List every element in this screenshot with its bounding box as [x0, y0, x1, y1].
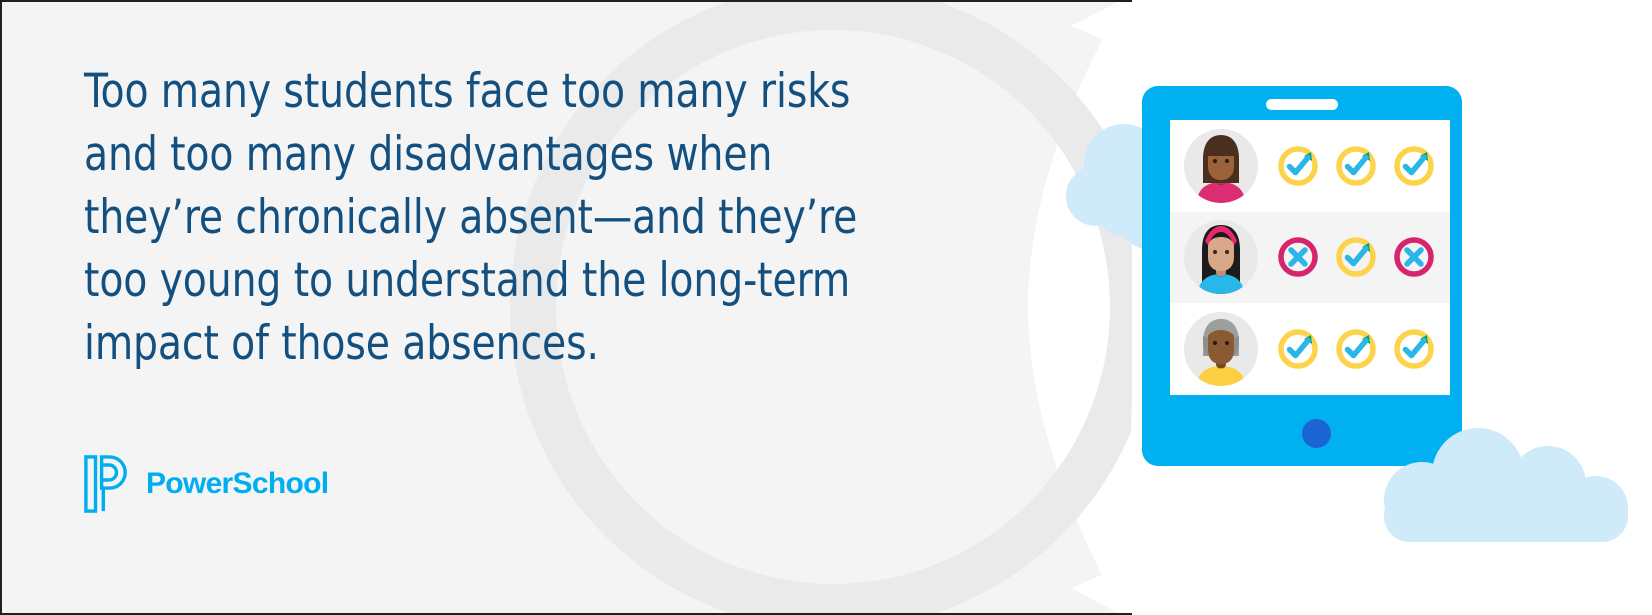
check-circle-icon[interactable]	[1334, 144, 1378, 188]
cross-circle-icon[interactable]	[1392, 235, 1436, 279]
cloud-right	[1360, 428, 1652, 552]
tablet-speaker	[1266, 99, 1338, 110]
status-cells	[1276, 327, 1436, 371]
table-row[interactable]	[1170, 120, 1450, 212]
tablet-home-button[interactable]	[1302, 419, 1331, 448]
headline-text: Too many students face too many risks an…	[84, 60, 902, 375]
check-circle-icon[interactable]	[1392, 144, 1436, 188]
status-cells	[1276, 235, 1436, 279]
tablet-screen[interactable]	[1170, 120, 1450, 395]
avatar-student-3-icon	[1184, 312, 1258, 386]
check-circle-icon[interactable]	[1392, 327, 1436, 371]
check-circle-icon[interactable]	[1276, 327, 1320, 371]
avatar-student-2-icon	[1184, 220, 1258, 294]
border-top	[0, 0, 1132, 2]
cross-circle-icon[interactable]	[1276, 235, 1320, 279]
avatar-student-1-icon	[1184, 129, 1258, 203]
tablet-device[interactable]	[1142, 86, 1462, 466]
check-circle-icon[interactable]	[1334, 327, 1378, 371]
border-left	[0, 0, 2, 615]
powerschool-wordmark: PowerSchool	[146, 466, 342, 502]
banner-canvas: Too many students face too many risks an…	[0, 0, 1652, 615]
check-circle-icon[interactable]	[1334, 235, 1378, 279]
copy-block: Too many students face too many risks an…	[84, 60, 964, 375]
powerschool-wordmark-text: PowerSchool	[146, 467, 328, 500]
status-cells	[1276, 144, 1436, 188]
powerschool-logo[interactable]: PowerSchool	[84, 455, 342, 513]
table-row[interactable]	[1170, 303, 1450, 395]
table-row[interactable]	[1170, 212, 1450, 304]
check-circle-icon[interactable]	[1276, 144, 1320, 188]
powerschool-p-icon	[84, 455, 132, 513]
